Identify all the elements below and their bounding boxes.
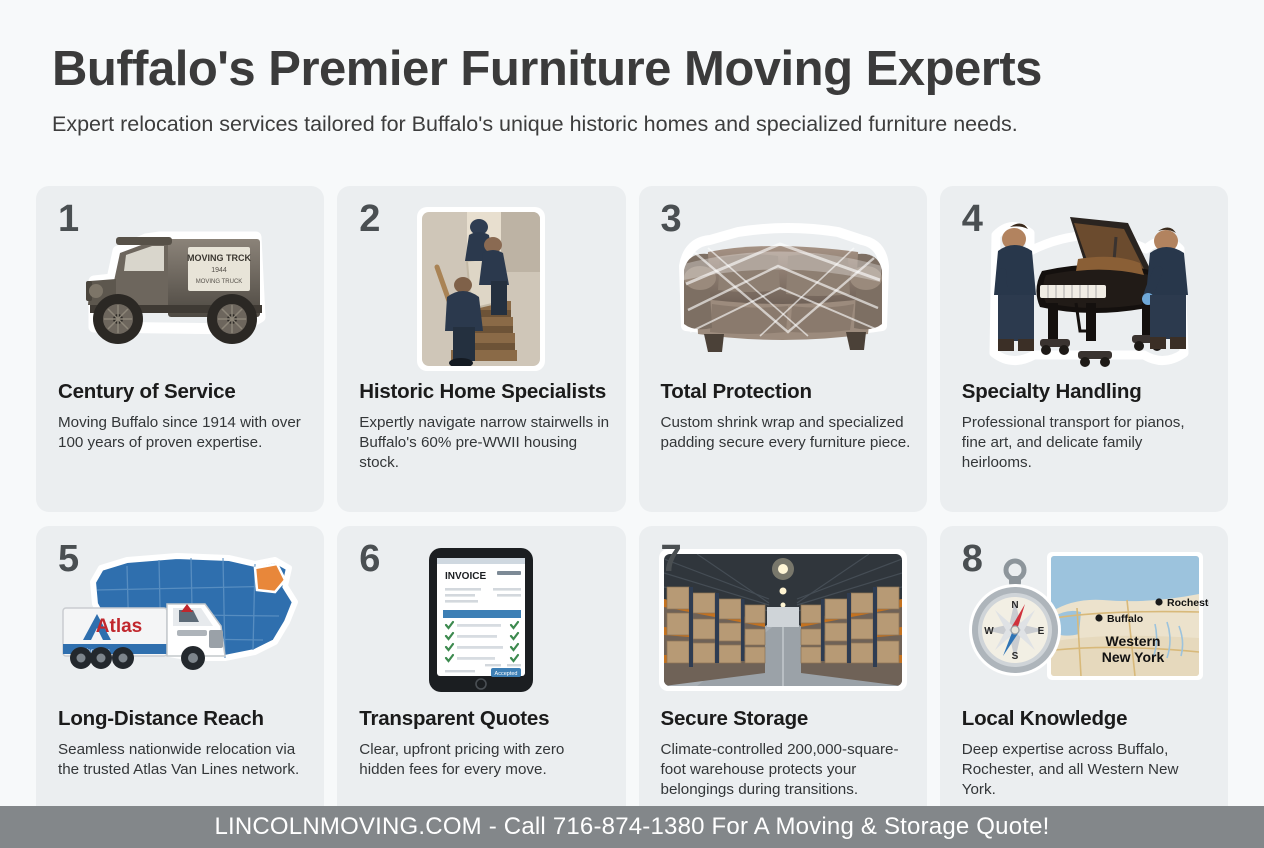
card-title: Century of Service [58, 381, 308, 404]
card-description: Deep expertise across Buffalo, Rochester… [962, 740, 1212, 801]
footer-cta-text: LINCOLNMOVING.COM - Call 716-874-1380 Fo… [214, 813, 1049, 841]
card-number: 6 [359, 540, 380, 578]
invoice-heading: INVOICE [445, 571, 486, 582]
compass-east-label: E [1038, 626, 1045, 637]
card-text: Century of Service Moving Buffalo since … [58, 381, 308, 453]
card-number: 2 [359, 200, 380, 238]
truck-sign-line2: 1944 [211, 267, 227, 274]
movers-with-grand-piano-image [940, 200, 1228, 378]
atlas-brand-label: Atlas [96, 616, 142, 637]
feature-card-1[interactable]: 1 MOVING TRCK 1944 MOVING [36, 186, 324, 512]
vintage-moving-truck-image: MOVING TRCK 1944 MOVING TRUCK [36, 200, 324, 378]
warehouse-aisle-image [639, 544, 927, 696]
truck-sign-line3: MOVING TRUCK [196, 279, 243, 285]
feature-card-7[interactable]: 7 [639, 526, 927, 846]
card-number: 7 [661, 540, 682, 578]
card-description: Climate-controlled 200,000-square-foot w… [661, 740, 911, 801]
header: Buffalo's Premier Furniture Moving Exper… [0, 0, 1264, 138]
feature-card-3[interactable]: 3 [639, 186, 927, 512]
rochester-label: Rochester [1167, 597, 1209, 609]
card-description: Professional transport for pianos, fine … [962, 413, 1212, 474]
card-title: Specialty Handling [962, 381, 1212, 404]
feature-card-6[interactable]: 6 INVOICE [337, 526, 625, 846]
card-text: Long-Distance Reach Seamless nationwide … [58, 708, 308, 780]
card-text: Local Knowledge Deep expertise across Bu… [962, 708, 1212, 801]
card-title: Total Protection [661, 381, 911, 404]
card-text: Total Protection Custom shrink wrap and … [661, 381, 911, 453]
buffalo-label: Buffalo [1107, 613, 1143, 625]
card-number: 5 [58, 540, 79, 578]
compass-west-label: W [984, 626, 994, 637]
feature-card-8[interactable]: 8 [940, 526, 1228, 846]
card-description: Expertly navigate narrow stairwells in B… [359, 413, 609, 474]
feature-card-5[interactable]: 5 [36, 526, 324, 846]
card-title: Local Knowledge [962, 708, 1212, 731]
card-title: Historic Home Specialists [359, 381, 609, 404]
wny-map: Rochester Buffalo Western New York [1047, 552, 1209, 680]
feature-card-2[interactable]: 2 [337, 186, 625, 512]
rochester-dot [1155, 598, 1162, 605]
compass-south-label: S [1012, 651, 1019, 662]
card-title: Secure Storage [661, 708, 911, 731]
page-title: Buffalo's Premier Furniture Moving Exper… [52, 44, 1212, 95]
card-title: Long-Distance Reach [58, 708, 308, 731]
card-description: Moving Buffalo since 1914 with over 100 … [58, 413, 308, 453]
compass-wny-map-image: Rochester Buffalo Western New York [940, 544, 1228, 696]
page-subtitle: Expert relocation services tailored for … [52, 112, 1212, 138]
card-number: 1 [58, 200, 79, 238]
tablet-invoice-image: INVOICE [337, 544, 625, 696]
footer-cta-bar[interactable]: LINCOLNMOVING.COM - Call 716-874-1380 Fo… [0, 806, 1264, 848]
region-label-line2: New York [1102, 649, 1165, 665]
atlas-truck-us-map-image: Atlas Van Lines [36, 544, 324, 696]
card-description: Custom shrink wrap and specialized paddi… [661, 413, 911, 453]
card-text: Secure Storage Climate-controlled 200,00… [661, 708, 911, 801]
card-text: Historic Home Specialists Expertly navig… [359, 381, 609, 474]
shrink-wrapped-sofa-image [639, 200, 927, 378]
feature-card-grid: 1 MOVING TRCK 1944 MOVING [36, 186, 1228, 846]
invoice-accept-label: Accepted [495, 671, 518, 677]
compass-north-label: N [1011, 600, 1018, 611]
infographic-page: Buffalo's Premier Furniture Moving Exper… [0, 0, 1264, 848]
buffalo-dot [1095, 614, 1102, 621]
region-label-line1: Western [1105, 633, 1160, 649]
card-title: Transparent Quotes [359, 708, 609, 731]
card-description: Seamless nationwide relocation via the t… [58, 740, 308, 780]
feature-card-4[interactable]: 4 [940, 186, 1228, 512]
card-text: Transparent Quotes Clear, upfront pricin… [359, 708, 609, 780]
truck-sign-line1: MOVING TRCK [187, 253, 251, 263]
movers-on-staircase-image [337, 200, 625, 378]
card-number: 3 [661, 200, 682, 238]
card-description: Clear, upfront pricing with zero hidden … [359, 740, 609, 780]
card-number: 4 [962, 200, 983, 238]
card-number: 8 [962, 540, 983, 578]
card-text: Specialty Handling Professional transpor… [962, 381, 1212, 474]
